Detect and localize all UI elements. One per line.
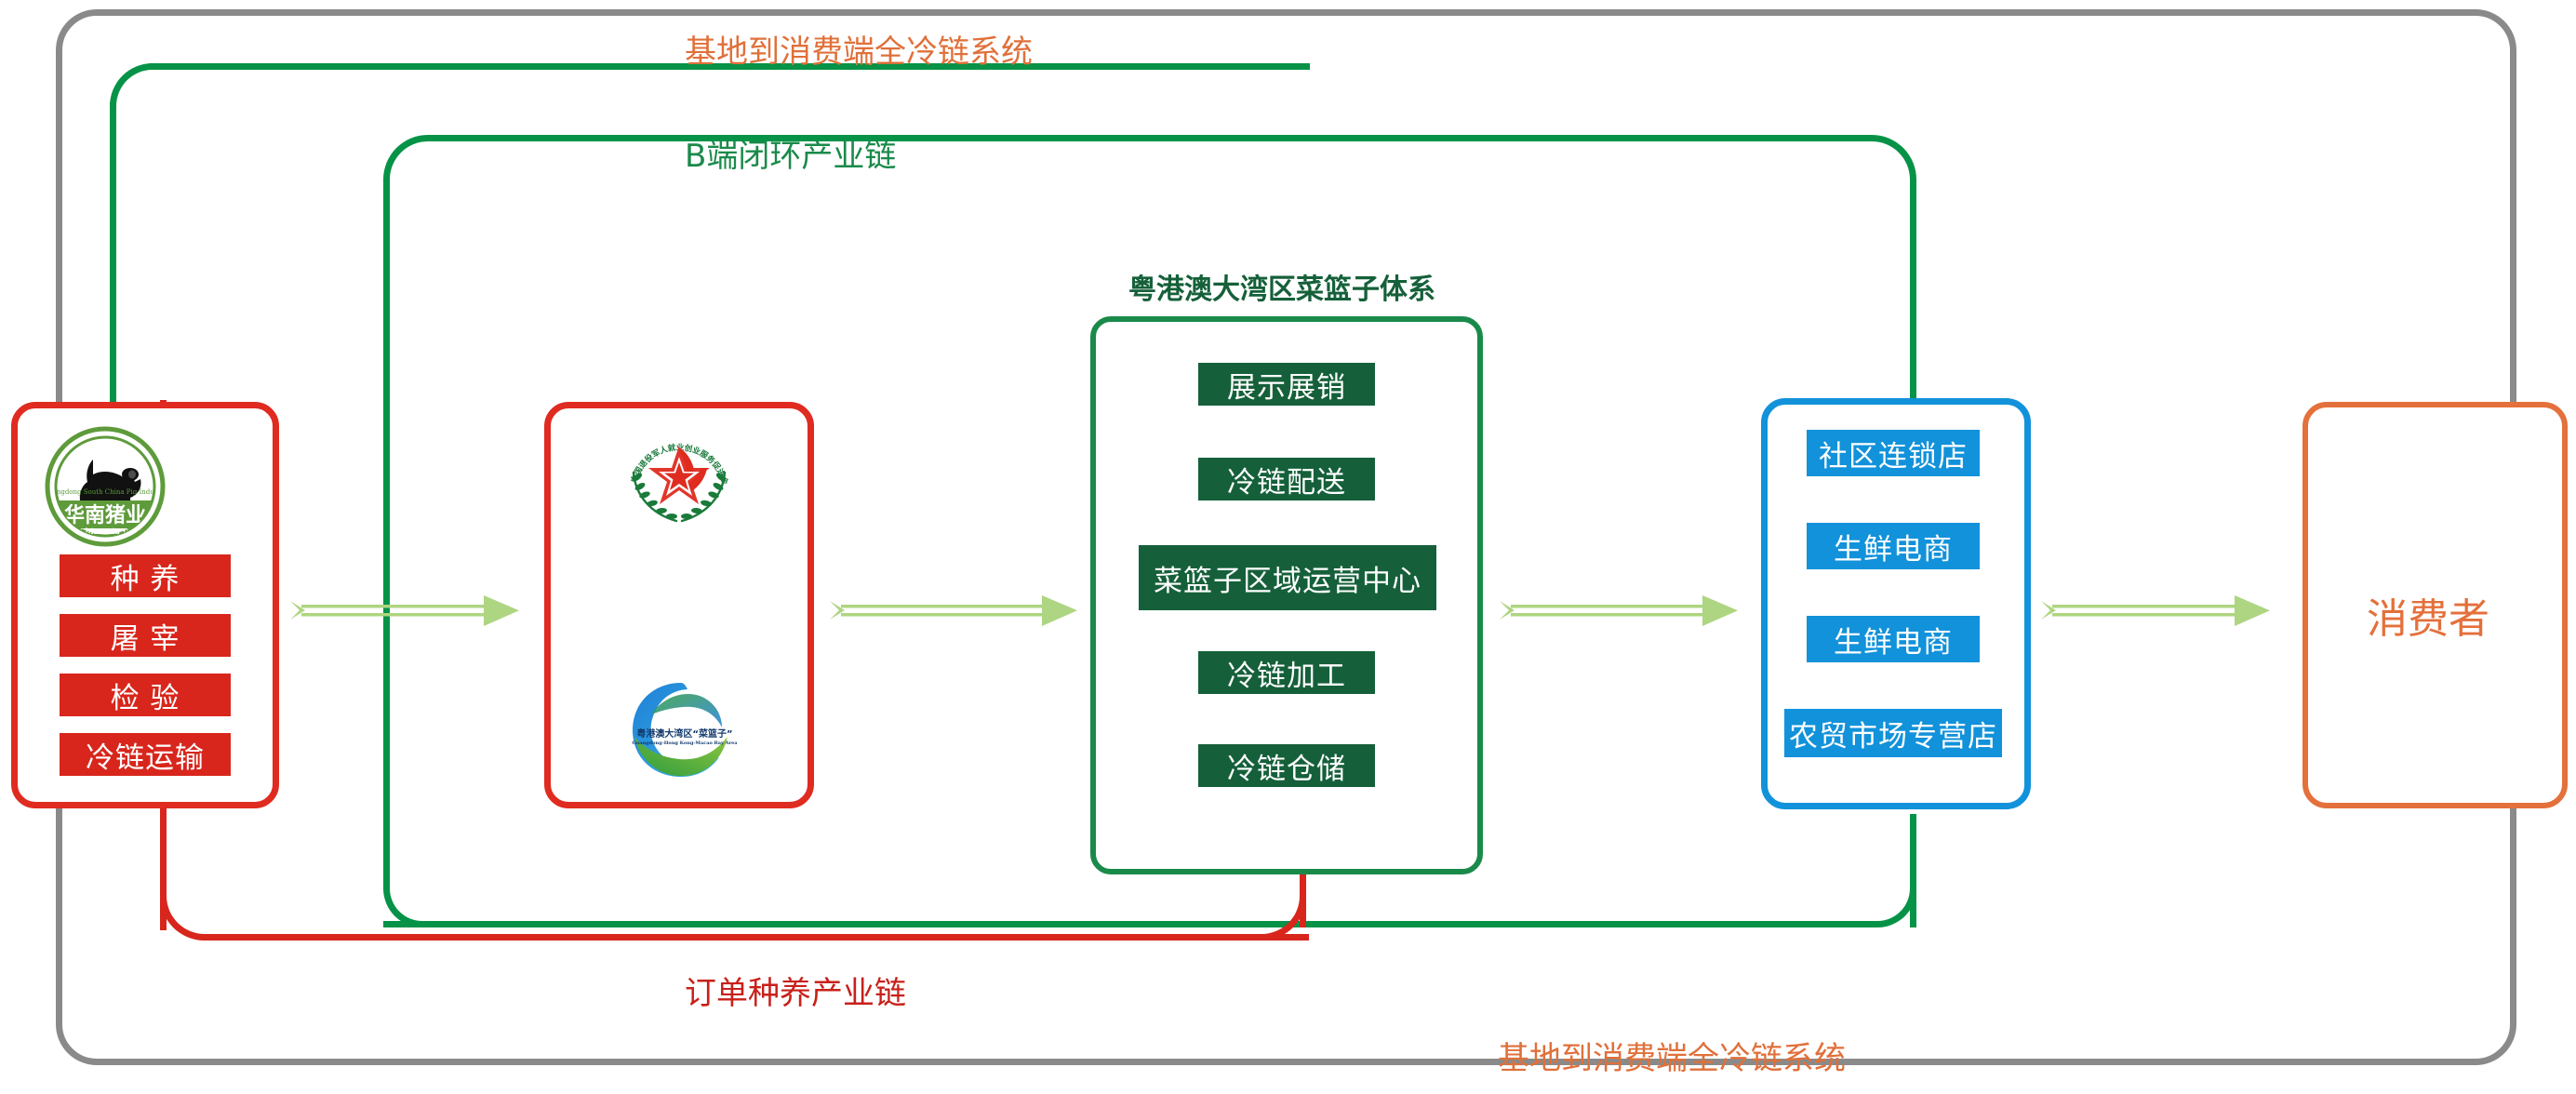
green-loop-label: B端闭环产业链 <box>685 130 896 176</box>
outer-frame-label-top: 基地到消费端全冷链系统 <box>685 26 1033 72</box>
green-loop-left-edge <box>110 102 116 405</box>
svg-text:粤港澳大湾区“菜篮子”: 粤港澳大湾区“菜篮子” <box>636 727 732 740</box>
bayarea-title: 粤港澳大湾区菜篮子体系 <box>1128 266 1435 307</box>
retail-chip-2[interactable]: 生鲜电商 <box>1807 616 1980 662</box>
retail-chip-0[interactable]: 社区连锁店 <box>1807 430 1980 476</box>
retail-chip-1[interactable]: 生鲜电商 <box>1807 523 1980 569</box>
outer-frame-label-bottom: 基地到消费端全冷链系统 <box>1498 1033 1846 1078</box>
svg-text:Guangdong South China Pig Indu: Guangdong South China Pig Industry <box>45 488 166 496</box>
bayarea-chip-0[interactable]: 展示展销 <box>1198 363 1375 406</box>
bay-area-vegetable-basket-icon: 粤港澳大湾区“菜篮子” Guangdong-Hong Kong-Macao Ba… <box>625 679 737 781</box>
bayarea-chip-4[interactable]: 冷链仓储 <box>1198 744 1375 787</box>
bayarea-chip-1[interactable]: 冷链配送 <box>1198 458 1375 500</box>
bayarea-frame-left-edge <box>383 181 390 888</box>
diagram-canvas: 基地到消费端全冷链系统 B端闭环产业链 订单种养产业链 基地到消费端全冷链系统 … <box>0 0 2576 1094</box>
pig-silhouette-icon: 华南猪业 South China Pig Industry Guangdong … <box>45 426 166 547</box>
bayarea-frame-top-edge <box>428 135 1870 141</box>
star-wheat-emblem-icon: 中国退役军人就业创业服务促进会 <box>619 419 740 540</box>
retail-chip-3[interactable]: 农贸市场专营店 <box>1784 709 2002 757</box>
production-chip-1[interactable]: 屠 宰 <box>60 614 231 657</box>
red-loop-label: 订单种养产业链 <box>685 967 906 1013</box>
production-chip-0[interactable]: 种 养 <box>60 554 231 597</box>
bayarea-chip-3[interactable]: 冷链加工 <box>1198 651 1375 694</box>
consumer-label: 消费者 <box>2367 585 2489 645</box>
green-loop-corner-top-left <box>110 63 203 156</box>
green-loop-right-edge-lower <box>1910 814 1916 927</box>
arrow-retail-to-consumer <box>2039 586 2290 642</box>
green-loop-right-edge-upper <box>1910 186 1916 400</box>
svg-text:Guangdong-Hong Kong-Macao Bay: Guangdong-Hong Kong-Macao Bay Area <box>632 740 737 746</box>
arrow-production-to-certification <box>288 586 540 642</box>
red-loop-bottom-edge <box>207 934 1309 941</box>
production-chip-2[interactable]: 检 验 <box>60 674 231 716</box>
bayarea-chip-2[interactable]: 菜篮子区域运营中心 <box>1139 545 1436 610</box>
arrow-certification-to-bayarea <box>828 586 1098 642</box>
svg-text:华南猪业: 华南猪业 <box>64 503 146 527</box>
arrow-bayarea-to-retail <box>1498 586 1758 642</box>
production-chip-3[interactable]: 冷链运输 <box>60 733 231 776</box>
green-loop-bottom-edge <box>383 921 1872 927</box>
